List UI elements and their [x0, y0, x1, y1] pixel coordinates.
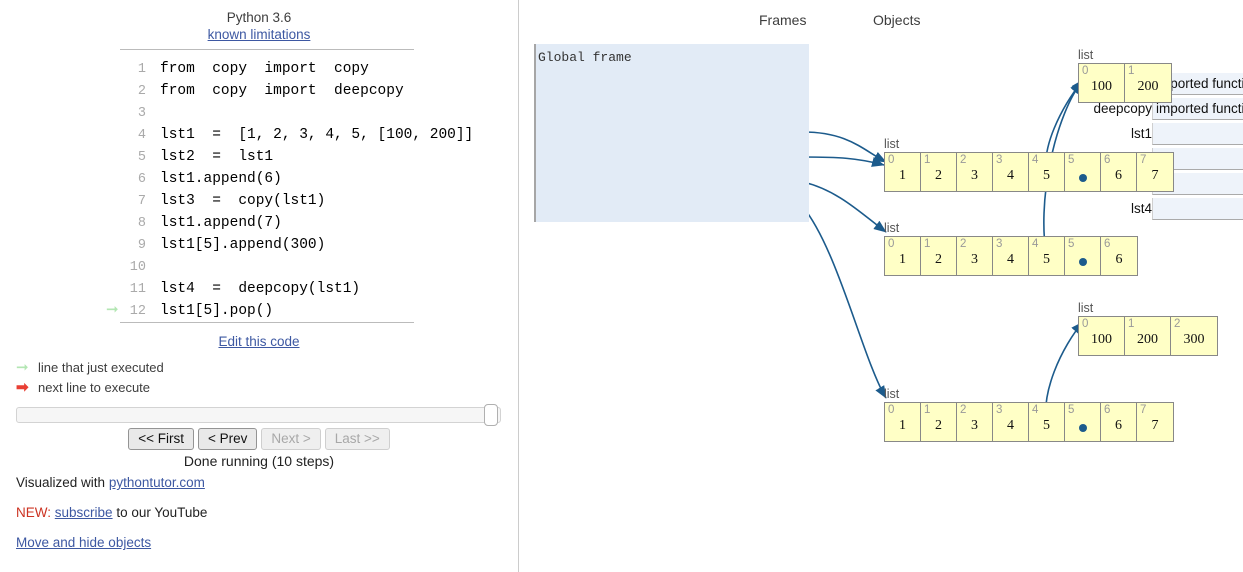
cell-index: 4	[1032, 403, 1038, 417]
cell-value: 7	[1137, 418, 1173, 434]
cell-index: 6	[1104, 153, 1110, 167]
move-hide-wrap: Move and hide objects	[16, 535, 151, 550]
list-cell: 45	[1029, 153, 1065, 191]
known-limitations-link-wrap: known limitations	[0, 27, 518, 42]
known-limitations-link[interactable]: known limitations	[208, 27, 311, 42]
code-line-text: from copy import copy	[160, 58, 369, 80]
list-cell: 01	[885, 237, 921, 275]
cell-value: 6	[1101, 252, 1137, 268]
list-object[interactable]: list011223344556677	[884, 388, 1174, 442]
object-type-label: list	[884, 388, 1174, 401]
navigation-buttons: << First< PrevNext >Last >>	[0, 428, 518, 450]
list-cell: 45	[1029, 237, 1065, 275]
visualized-with: Visualized with pythontutor.com	[16, 475, 205, 490]
cell-value: 3	[957, 168, 992, 184]
cell-value: 3	[957, 252, 992, 268]
code-line-text: lst2 = lst1	[160, 146, 273, 168]
cell-value: 1	[885, 168, 920, 184]
cell-index: 2	[960, 153, 966, 167]
list-cell: 1200	[1125, 64, 1171, 102]
list-cell: 66	[1101, 153, 1137, 191]
cell-value: 4	[993, 418, 1028, 434]
cell-index: 0	[888, 237, 894, 251]
pointer-dot	[1079, 174, 1087, 182]
cell-index: 4	[1032, 237, 1038, 251]
code-line: 8lst1.append(7)	[120, 212, 420, 234]
object-type-label: list	[1078, 302, 1218, 315]
news-line: NEW: subscribe to our YouTube	[16, 505, 207, 520]
list-cell: 34	[993, 237, 1029, 275]
cell-index: 6	[1104, 403, 1110, 417]
move-and-hide-objects-link[interactable]: Move and hide objects	[16, 535, 151, 550]
code-line-number: 8	[120, 213, 146, 235]
code-line-text: lst1[5].pop()	[160, 300, 273, 322]
visualized-with-prefix: Visualized with	[16, 475, 109, 490]
cell-index: 0	[888, 153, 894, 167]
list-cells: 011223344556677	[884, 152, 1174, 192]
code-top-rule	[120, 49, 414, 50]
code-line-text: lst1.append(6)	[160, 168, 282, 190]
legend-just-executed-label: line that just executed	[38, 360, 164, 375]
cell-index: 3	[996, 403, 1002, 417]
cell-index: 5	[1068, 237, 1074, 251]
pointer-dot	[1079, 424, 1087, 432]
execution-legend: ➞line that just executed ➡next line to e…	[16, 358, 164, 398]
cell-value: 100	[1079, 79, 1124, 95]
code-line-number: 3	[120, 103, 146, 125]
list-object[interactable]: list011223344556677	[884, 138, 1174, 192]
pythontutor-link[interactable]: pythontutor.com	[109, 475, 205, 490]
cell-value: 6	[1101, 168, 1136, 184]
code-line-text: from copy import deepcopy	[160, 80, 404, 102]
objects-header: Objects	[873, 12, 920, 28]
list-cell: 77	[1137, 153, 1173, 191]
list-cell: 34	[993, 153, 1029, 191]
cell-value: 4	[993, 168, 1028, 184]
code-line: 5lst2 = lst1	[120, 146, 420, 168]
just-executed-arrow-icon: ➞	[106, 300, 126, 322]
list-cells: 011223344556677	[884, 402, 1174, 442]
cell-value: 1	[885, 418, 920, 434]
cell-index: 6	[1104, 237, 1110, 251]
code-line: 1from copy import copy	[120, 58, 420, 80]
cell-value: 200	[1125, 332, 1170, 348]
list-object[interactable]: list010012002300	[1078, 302, 1218, 356]
code-line-text: lst4 = deepcopy(lst1)	[160, 278, 360, 300]
legend-next-line-label: next line to execute	[38, 380, 150, 395]
list-cell: 66	[1101, 237, 1137, 275]
nav-button-last: Last >>	[325, 428, 390, 450]
code-listing: 1from copy import copy2from copy import …	[120, 58, 420, 322]
list-object[interactable]: list0112233445566	[884, 222, 1138, 276]
code-line: 10	[120, 256, 420, 278]
code-line-number: 1	[120, 59, 146, 81]
pointer-dot	[1079, 258, 1087, 266]
list-cell: 12	[921, 403, 957, 441]
code-bottom-rule	[120, 322, 414, 323]
nav-button-first[interactable]: << First	[128, 428, 194, 450]
nav-button-next: Next >	[261, 428, 320, 450]
cell-index: 7	[1140, 403, 1146, 417]
step-slider-track[interactable]	[16, 407, 501, 423]
cell-index: 0	[1082, 64, 1088, 78]
object-type-label: list	[884, 138, 1174, 151]
cell-index: 0	[888, 403, 894, 417]
cell-index: 1	[924, 237, 930, 251]
code-line-number: 4	[120, 125, 146, 147]
green-arrow-icon: ➞	[16, 358, 38, 378]
cell-index: 3	[996, 237, 1002, 251]
cell-value: 2	[921, 168, 956, 184]
list-cell: 01	[885, 403, 921, 441]
list-cell: 1200	[1125, 317, 1171, 355]
variable-value	[1152, 198, 1243, 220]
list-cell: 66	[1101, 403, 1137, 441]
list-cell: 12	[921, 237, 957, 275]
code-line-number: 11	[120, 279, 146, 301]
code-line-number: 2	[120, 81, 146, 103]
list-cells: 0112233445566	[884, 236, 1138, 276]
red-arrow-icon: ➡	[16, 378, 38, 398]
list-cell: 0100	[1079, 64, 1125, 102]
cell-value: 3	[957, 418, 992, 434]
cell-index: 2	[960, 403, 966, 417]
code-line: 6lst1.append(6)	[120, 168, 420, 190]
list-cells: 010012002300	[1078, 316, 1218, 356]
pythontutor-visualizer: Python 3.6 known limitations 1from copy …	[0, 0, 1243, 572]
cell-value: 5	[1029, 252, 1064, 268]
cell-value: 2	[921, 418, 956, 434]
new-badge: NEW:	[16, 505, 51, 520]
step-slider-handle[interactable]	[484, 404, 498, 426]
frame-variable-row: lst4	[1052, 198, 1243, 223]
list-cell: 23	[957, 403, 993, 441]
code-line: 4lst1 = [1, 2, 3, 4, 5, [100, 200]]	[120, 124, 420, 146]
legend-just-executed: ➞line that just executed	[16, 358, 164, 378]
cell-index: 5	[1068, 153, 1074, 167]
code-line: 7lst3 = copy(lst1)	[120, 190, 420, 212]
list-cell: 12	[921, 153, 957, 191]
list-object[interactable]: list01001200	[1078, 49, 1172, 103]
object-type-label: list	[1078, 49, 1172, 62]
list-cell: 77	[1137, 403, 1173, 441]
code-line: 9lst1[5].append(300)	[120, 234, 420, 256]
code-line: 3	[120, 102, 420, 124]
cell-index: 5	[1068, 403, 1074, 417]
list-cell: 23	[957, 237, 993, 275]
cell-index: 3	[996, 153, 1002, 167]
list-cell: 34	[993, 403, 1029, 441]
code-line-text: lst1[5].append(300)	[160, 234, 325, 256]
cell-index: 4	[1032, 153, 1038, 167]
list-cell: 5	[1065, 403, 1101, 441]
legend-next-line: ➡next line to execute	[16, 378, 164, 398]
cell-value: 300	[1171, 332, 1217, 348]
list-cell: 23	[957, 153, 993, 191]
variable-name: lst4	[1056, 198, 1152, 220]
news-suffix: to our YouTube	[113, 505, 208, 520]
cell-value: 5	[1029, 418, 1064, 434]
cell-index: 1	[924, 153, 930, 167]
list-cell: 2300	[1171, 317, 1217, 355]
cell-value: 1	[885, 252, 920, 268]
cell-value: 6	[1101, 418, 1136, 434]
execution-status: Done running (10 steps)	[0, 453, 518, 469]
code-line: ➞12lst1[5].pop()	[120, 300, 420, 322]
code-line-number: 7	[120, 191, 146, 213]
code-line-text: lst3 = copy(lst1)	[160, 190, 325, 212]
list-cell: 5	[1065, 237, 1101, 275]
cell-value: 4	[993, 252, 1028, 268]
global-frame-title: Global frame	[538, 50, 632, 65]
code-line-number: 10	[120, 257, 146, 279]
subscribe-link[interactable]: subscribe	[55, 505, 113, 520]
cell-index: 0	[1082, 317, 1088, 331]
code-line-number: 9	[120, 235, 146, 257]
cell-index: 1	[1128, 64, 1134, 78]
code-line: 11lst4 = deepcopy(lst1)	[120, 278, 420, 300]
edit-this-code-link[interactable]: Edit this code	[218, 334, 299, 349]
cell-value: 2	[921, 252, 956, 268]
list-cells: 01001200	[1078, 63, 1172, 103]
nav-button-prev[interactable]: < Prev	[198, 428, 257, 450]
edit-this-code-wrap: Edit this code	[0, 334, 518, 349]
code-line: 2from copy import deepcopy	[120, 80, 420, 102]
cell-value: 200	[1125, 79, 1171, 95]
cell-value: 7	[1137, 168, 1173, 184]
cell-value: 5	[1029, 168, 1064, 184]
list-cell: 0100	[1079, 317, 1125, 355]
python-version-label: Python 3.6	[0, 10, 518, 25]
cell-index: 1	[924, 403, 930, 417]
list-cell: 45	[1029, 403, 1065, 441]
code-line-text: lst1 = [1, 2, 3, 4, 5, [100, 200]]	[160, 124, 473, 146]
cell-index: 1	[1128, 317, 1134, 331]
list-cell: 5	[1065, 153, 1101, 191]
cell-index: 2	[1174, 317, 1180, 331]
visualization-pane: Frames Objects Global frame	[518, 0, 1243, 572]
cell-value: 100	[1079, 332, 1124, 348]
code-line-number: 5	[120, 147, 146, 169]
code-pane: Python 3.6 known limitations 1from copy …	[0, 0, 518, 572]
object-type-label: list	[884, 222, 1138, 235]
cell-index: 7	[1140, 153, 1146, 167]
list-cell: 01	[885, 153, 921, 191]
code-line-number: 6	[120, 169, 146, 191]
frames-header: Frames	[759, 12, 806, 28]
cell-index: 2	[960, 237, 966, 251]
code-line-text: lst1.append(7)	[160, 212, 282, 234]
global-frame-box	[534, 44, 809, 222]
